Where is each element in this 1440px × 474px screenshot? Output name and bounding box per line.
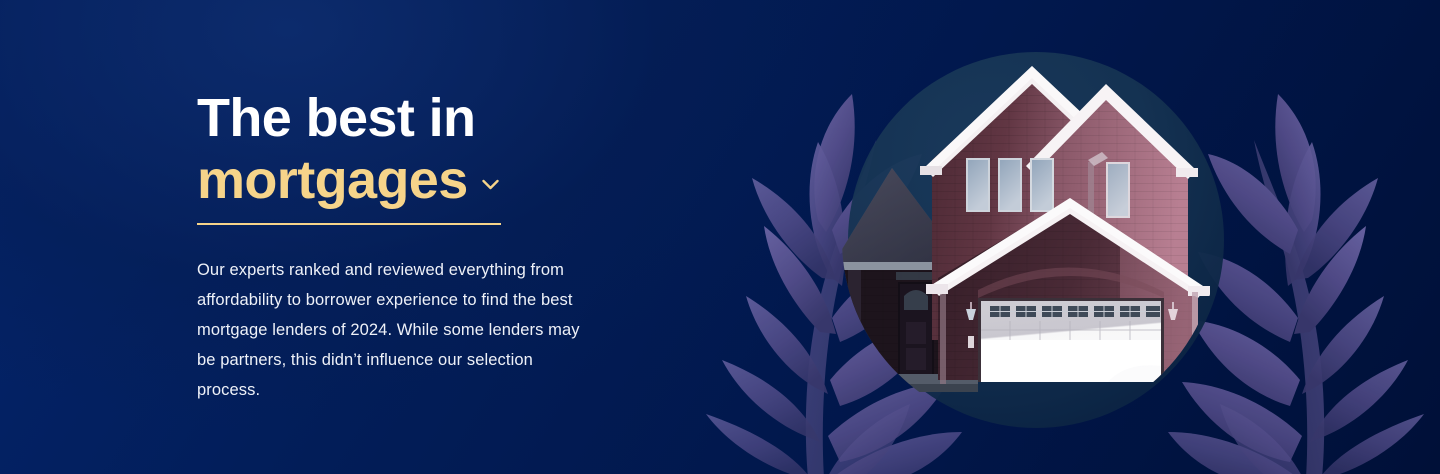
accent-underline [197,223,501,225]
hero-text-column: The best in mortgages Our experts ranked… [197,88,617,405]
hero-description: Our experts ranked and reviewed everythi… [197,255,597,405]
house-illustration [820,40,1240,380]
category-selector[interactable]: mortgages [197,150,617,210]
hero-banner: The best in mortgages Our experts ranked… [0,0,1440,474]
page-title-accent-word[interactable]: mortgages [197,150,468,210]
page-title-line-1: The best in [197,88,617,148]
chevron-down-icon[interactable] [482,179,499,190]
